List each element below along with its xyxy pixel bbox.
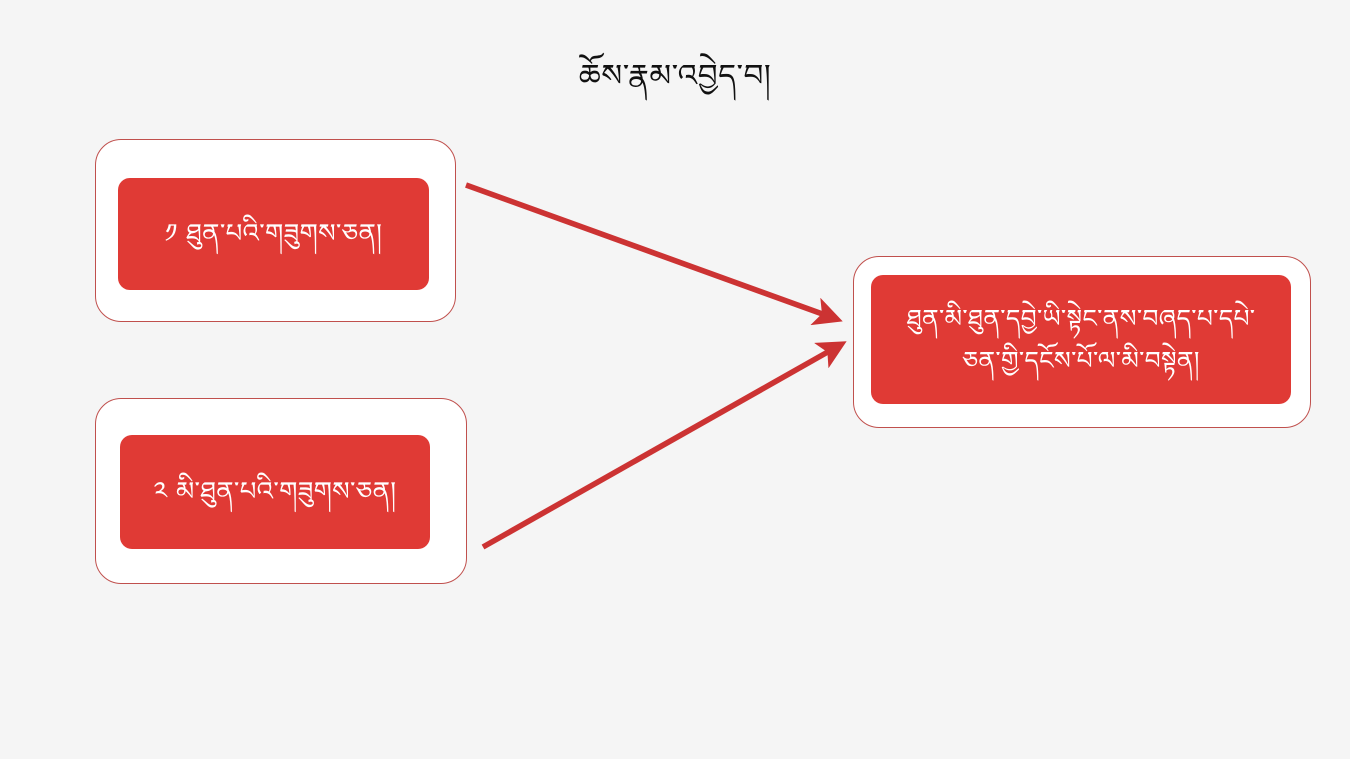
plate-conclusion-line-1: ཐུན་མི་ཐུན་དབྱེ་ཡི་སྟེང་ནས་བཞད་པ་དཔེ་ (907, 304, 1256, 333)
plate-concordant[interactable]: ༡ ཐུན་པའི་གཟུགས་ཅན། (118, 178, 429, 290)
slide-canvas: ཆོས་རྣམ་འབྱེད་བ། ༡ ཐུན་པའི་གཟུགས་ཅན། ༢ མ… (0, 0, 1350, 759)
arrow-discordant-to-conclusion (483, 349, 833, 547)
plate-conclusion-label: ཐུན་མི་ཐུན་དབྱེ་ཡི་སྟེང་ནས་བཞད་པ་དཔེ་ཅན་… (897, 298, 1266, 381)
plate-conclusion-line-2: ཅན་གྱི་དངོས་པོ་ལ་མི་བསྟེན། (962, 346, 1200, 375)
plate-discordant[interactable]: ༢ མི་ཐུན་པའི་གཟུགས་ཅན། (120, 435, 430, 549)
arrow-concordant-to-conclusion (466, 185, 828, 316)
page-title: ཆོས་རྣམ་འབྱེད་བ། (0, 56, 1350, 98)
plate-concordant-label: ༡ ཐུན་པའི་གཟུགས་ཅན། (155, 214, 393, 254)
plate-conclusion[interactable]: ཐུན་མི་ཐུན་དབྱེ་ཡི་སྟེང་ནས་བཞད་པ་དཔེ་ཅན་… (871, 275, 1291, 404)
plate-discordant-label: ༢ མི་ཐུན་པའི་གཟུགས་ཅན། (144, 472, 407, 512)
